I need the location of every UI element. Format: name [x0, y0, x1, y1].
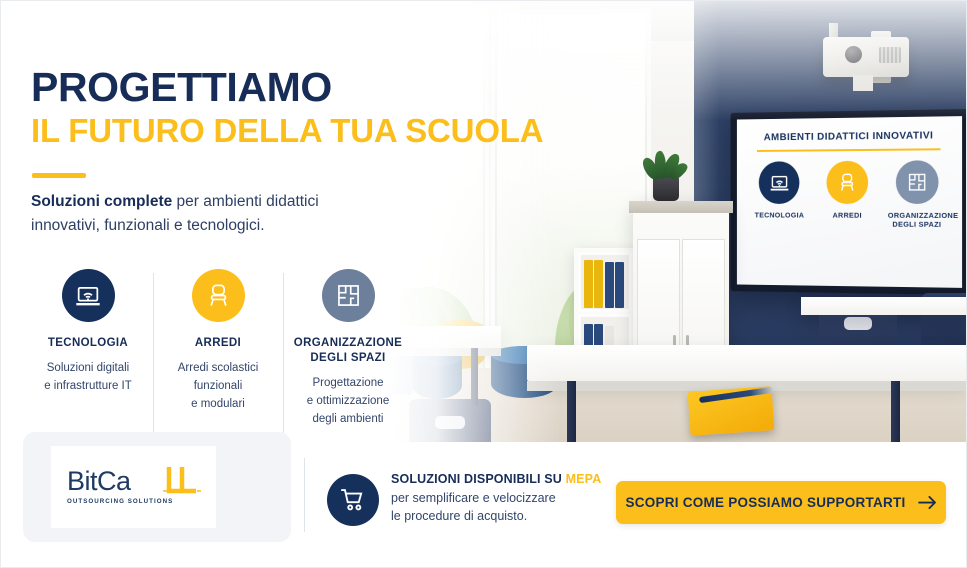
- floorplan-icon: [322, 269, 375, 322]
- cta-label: SCOPRI COME POSSIAMO SUPPORTARTI: [625, 495, 905, 510]
- whiteboard-item-tecnologia: TECNOLOGIA: [752, 161, 807, 229]
- feature-desc: Progettazione e ottimizzazione degli amb…: [289, 375, 407, 428]
- whiteboard-label: ORGANIZZAZIONE DEGLI SPAZI: [888, 211, 946, 230]
- hero-banner: AMBIENTI DIDATTICI INNOVATIVI TECNOLOGIA: [0, 0, 967, 568]
- logo-ll-mark: [163, 465, 203, 501]
- chair-icon: [826, 161, 868, 204]
- laptop-wifi-icon: [62, 269, 115, 322]
- feature-title: ORGANIZZAZIONE DEGLI SPAZI: [289, 336, 407, 366]
- page-title-line1: PROGETTIAMO: [31, 67, 332, 108]
- whiteboard-item-spazi: ORGANIZZAZIONE DEGLI SPAZI: [888, 160, 946, 230]
- laptop-wifi-icon: [759, 161, 800, 204]
- whiteboard-item-arredi: ARREDI: [819, 161, 876, 230]
- title-underline: [32, 173, 86, 178]
- mepa-desc: per semplificare e velocizzare le proced…: [391, 489, 606, 525]
- mepa-highlight: MEPA: [566, 472, 602, 486]
- bitcall-logo: BitCa OUTSOURCING SOLUTIONS: [67, 468, 173, 505]
- desk-front: [527, 345, 967, 381]
- hero-subtitle-bold: Soluzioni complete: [31, 193, 172, 210]
- feature-desc: Soluzioni digitali e infrastrutture IT: [29, 360, 147, 396]
- whiteboard-label: TECNOLOGIA: [752, 211, 807, 220]
- feature-desc: Arredi scolastici funzionali e modulari: [159, 360, 277, 413]
- logo-box: BitCa OUTSOURCING SOLUTIONS: [51, 446, 216, 528]
- desk-leg: [891, 381, 900, 442]
- page-title-line2: IL FUTURO DELLA TUA SCUOLA: [31, 114, 543, 147]
- hero-subtitle: Soluzioni complete per ambienti didattic…: [31, 190, 361, 238]
- chair-icon: [192, 269, 245, 322]
- interactive-whiteboard: AMBIENTI DIDATTICI INNOVATIVI TECNOLOGIA: [731, 109, 967, 295]
- logo-card: BitCa OUTSOURCING SOLUTIONS: [23, 432, 291, 542]
- whiteboard-rule: [757, 148, 941, 152]
- feature-title: TECNOLOGIA: [29, 336, 147, 351]
- classroom-photo: AMBIENTI DIDATTICI INNOVATIVI TECNOLOGIA: [331, 1, 967, 442]
- feature-arredi: ARREDI Arredi scolastici funzionali e mo…: [153, 269, 283, 428]
- mepa-headline: SOLUZIONI DISPONIBILI SU MEPA: [391, 472, 606, 486]
- whiteboard-label: ARREDI: [819, 211, 876, 220]
- arrow-right-icon: [918, 495, 937, 510]
- mepa-block: SOLUZIONI DISPONIBILI SU MEPA per sempli…: [391, 472, 606, 525]
- cart-icon: [327, 474, 379, 526]
- footer-divider: [304, 458, 305, 532]
- floorplan-icon: [896, 160, 939, 204]
- cta-button[interactable]: SCOPRI COME POSSIAMO SUPPORTARTI: [616, 481, 946, 524]
- feature-list: TECNOLOGIA Soluzioni digitali e infrastr…: [23, 269, 413, 428]
- mepa-headline-prefix: SOLUZIONI DISPONIBILI SU: [391, 472, 566, 486]
- hero-content: PROGETTIAMO IL FUTURO DELLA TUA SCUOLA S…: [1, 1, 421, 442]
- desk-leg: [567, 381, 576, 442]
- logo-tagline: OUTSOURCING SOLUTIONS: [67, 498, 173, 505]
- whiteboard-title: AMBIENTI DIDATTICI INNOVATIVI: [737, 129, 962, 143]
- feature-organizzazione: ORGANIZZAZIONE DEGLI SPAZI Progettazione…: [283, 269, 413, 428]
- footer-bar: BitCa OUTSOURCING SOLUTIONS SOLUZIONI DI…: [1, 442, 967, 568]
- desk-side: [801, 297, 967, 315]
- feature-tecnologia: TECNOLOGIA Soluzioni digitali e infrastr…: [23, 269, 153, 428]
- logo-name: BitCa: [67, 468, 173, 495]
- plant-pot-cabinet: [653, 177, 679, 201]
- feature-title: ARREDI: [159, 336, 277, 351]
